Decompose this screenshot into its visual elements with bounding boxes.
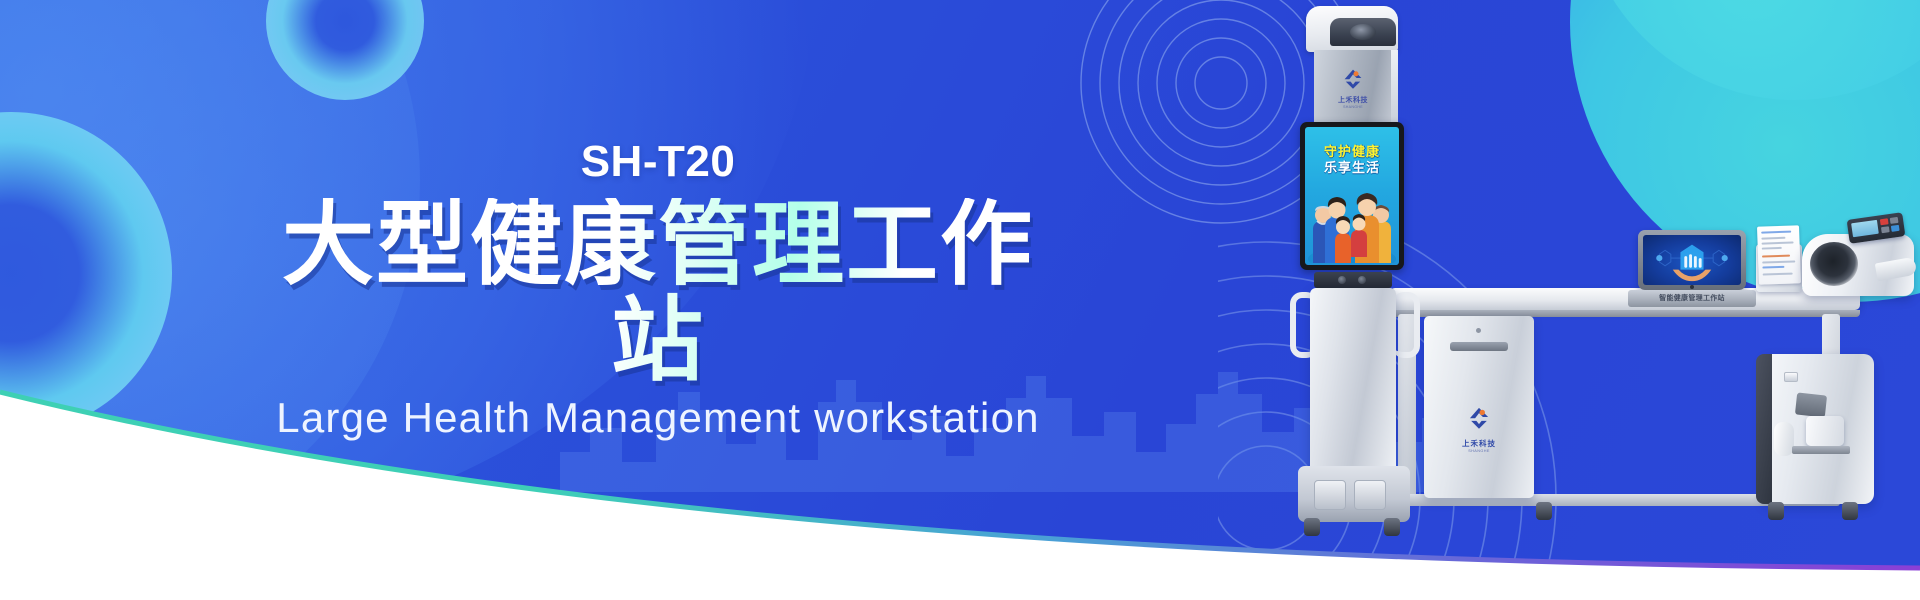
terminal-screen-graphic-icon xyxy=(1643,235,1741,285)
page-subtitle: Large Health Management workstation xyxy=(268,395,1048,441)
desk-caster xyxy=(1536,502,1552,520)
bpm-display xyxy=(1851,220,1879,237)
kiosk-ultrasonic-head xyxy=(1306,6,1398,52)
kiosk-brand-name-en: SHANGHE xyxy=(1330,105,1376,109)
bpm-button[interactable] xyxy=(1891,225,1900,232)
kiosk-body xyxy=(1310,288,1396,470)
kiosk-grip-sensor-icon xyxy=(1338,276,1346,284)
kiosk-slogan-line-2: 乐享生活 xyxy=(1305,157,1399,176)
bpm-start-button[interactable] xyxy=(1880,218,1889,225)
kiosk-column: 上禾科技 SHANGHE xyxy=(1314,50,1392,128)
report-line xyxy=(1762,241,1794,244)
report-line xyxy=(1762,255,1790,258)
kiosk-foot-pad-right xyxy=(1354,480,1386,510)
workstation-desk: 上禾科技 SHANGHE xyxy=(1390,288,1920,538)
kiosk-foot-pad-left xyxy=(1314,480,1346,510)
kiosk-handle-bar xyxy=(1314,272,1392,288)
page-title: 大型健康管理工作站 xyxy=(268,198,1048,389)
kiosk-grip-sensor-icon xyxy=(1358,276,1366,284)
product-image-group: 上禾科技 SHANGHE xyxy=(1250,0,1920,600)
cabinet-brand-logo: 上禾科技 SHANGHE xyxy=(1424,404,1534,453)
report-line xyxy=(1761,237,1785,240)
kiosk-sensor-lens-icon xyxy=(1350,24,1376,40)
terminal-screen xyxy=(1643,235,1741,285)
terminal-nameplate: 智能健康管理工作站 xyxy=(1628,290,1756,307)
report-line xyxy=(1762,266,1784,269)
blood-pressure-monitor xyxy=(1802,216,1920,300)
kiosk-caster xyxy=(1384,518,1400,536)
shanghe-logo-icon xyxy=(1466,404,1492,430)
cabinet-indicator-light xyxy=(1476,328,1481,333)
shanghe-logo-icon xyxy=(1341,66,1365,90)
cabinet-card-slot xyxy=(1450,342,1508,351)
side-cabinet-edge xyxy=(1756,354,1772,504)
kiosk-caster xyxy=(1304,518,1320,536)
terminal-shell xyxy=(1638,230,1746,290)
cabinet-brand-name-en: SHANGHE xyxy=(1424,449,1534,453)
kiosk-brand-logo: 上禾科技 SHANGHE xyxy=(1330,66,1376,109)
desk-caster xyxy=(1768,502,1784,520)
hero-copy-block: SH-T20 大型健康管理工作站 Large Health Management… xyxy=(268,140,1048,442)
health-kiosk: 上禾科技 SHANGHE 守护健康 乐享生活 xyxy=(1292,6,1412,586)
report-line xyxy=(1762,260,1795,263)
bpm-button[interactable] xyxy=(1890,217,1899,224)
kiosk-side-handle-right xyxy=(1392,292,1420,358)
report-line xyxy=(1761,231,1791,234)
model-code: SH-T20 xyxy=(268,140,1048,184)
terminal-camera xyxy=(1690,285,1694,289)
product-hero-banner: SH-T20 大型健康管理工作站 Large Health Management… xyxy=(0,0,1920,600)
report-printout xyxy=(1757,225,1801,284)
kiosk-advertising-display[interactable]: 守护健康 乐享生活 xyxy=(1300,122,1404,270)
health-workstation-terminal: 智能健康管理工作站 xyxy=(1638,230,1746,290)
desk-caster xyxy=(1842,502,1858,520)
side-cabinet-tray xyxy=(1795,392,1827,417)
kiosk-brand-name-cn: 上禾科技 xyxy=(1330,97,1376,105)
cabinet-brand-name-cn: 上禾科技 xyxy=(1424,438,1534,449)
side-cabinet-shelf xyxy=(1792,446,1850,454)
kiosk-display-content: 守护健康 乐享生活 xyxy=(1305,127,1399,265)
side-cabinet-knob xyxy=(1784,372,1798,382)
bpm-arm-cuff xyxy=(1810,242,1858,286)
family-illustration-icon xyxy=(1305,185,1399,263)
side-cabinet-tube xyxy=(1774,422,1794,456)
instrument-side-cabinet xyxy=(1762,354,1874,504)
report-line xyxy=(1763,273,1793,276)
bpm-button[interactable] xyxy=(1881,226,1890,233)
report-line xyxy=(1762,247,1782,250)
desk-cabinet: 上禾科技 SHANGHE xyxy=(1424,316,1534,498)
side-cabinet-module xyxy=(1806,416,1844,446)
